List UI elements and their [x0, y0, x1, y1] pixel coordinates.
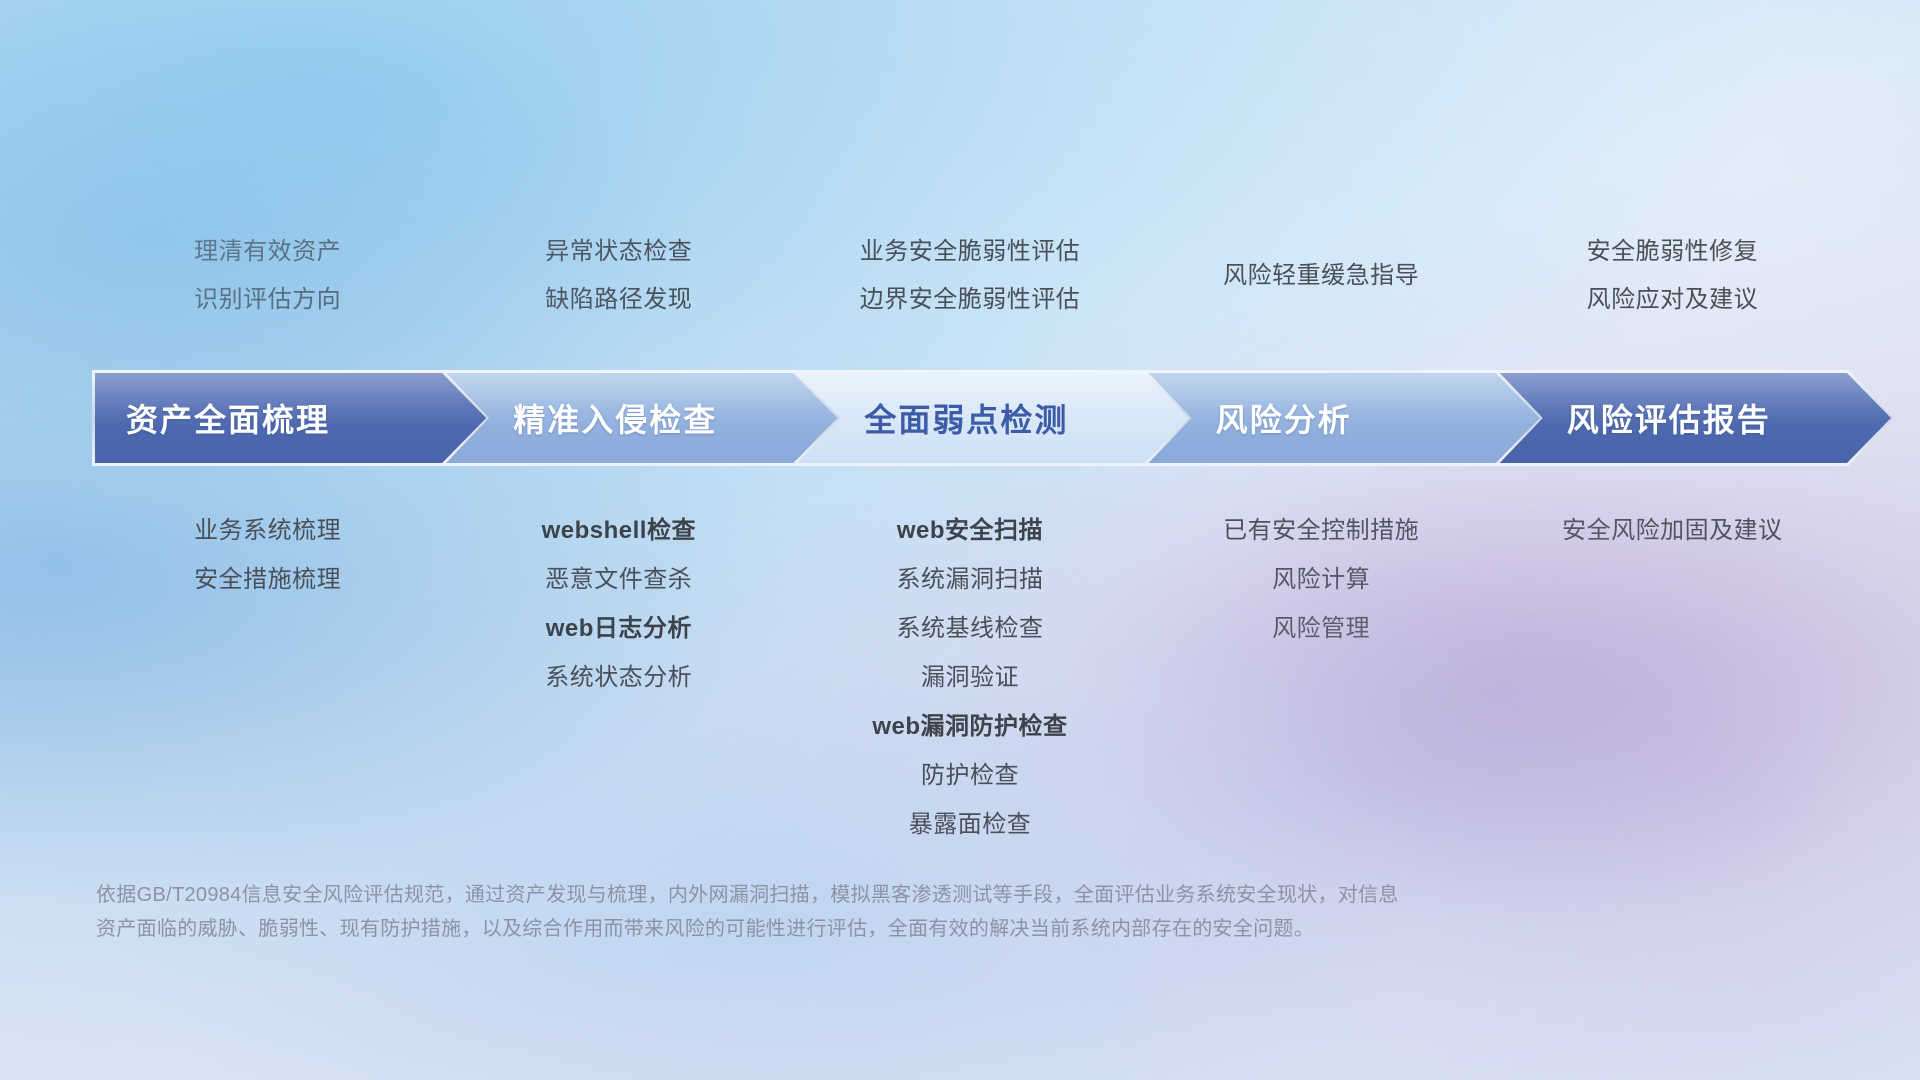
top-label-group-asset-inventory: 理清有效资产识别评估方向: [92, 228, 443, 338]
bottom-label-item: 防护检查: [794, 751, 1145, 800]
chevron-risk-report[interactable]: 风险评估报告: [1487, 370, 1894, 466]
bottom-label-item: web漏洞防护检查: [794, 702, 1145, 751]
top-label-item: 缺陷路径发现: [443, 276, 794, 324]
bottom-label-item: web日志分析: [443, 604, 794, 653]
bottom-label-group-asset-inventory: 业务系统梳理安全措施梳理: [92, 506, 443, 604]
bottom-label-item: 系统状态分析: [443, 653, 794, 702]
top-label-item: 异常状态检查: [443, 228, 794, 276]
top-label-item: 理清有效资产: [92, 228, 443, 276]
top-label-group-risk-analysis: 风险轻重缓急指导: [1146, 228, 1497, 338]
bottom-label-item: 系统基线检查: [794, 604, 1145, 653]
bottom-label-item: 业务系统梳理: [92, 506, 443, 555]
bottom-label-item: 暴露面检查: [794, 800, 1145, 849]
top-label-item: 边界安全脆弱性评估: [794, 276, 1145, 324]
bottom-label-item: 恶意文件查杀: [443, 555, 794, 604]
bottom-label-item: 风险管理: [1146, 604, 1497, 653]
bottom-label-group-risk-report: 安全风险加固及建议: [1497, 506, 1848, 555]
chevron-asset-inventory[interactable]: 资产全面梳理: [92, 370, 489, 466]
chevron-label-asset-inventory: 资产全面梳理: [126, 395, 330, 441]
bottom-label-item: 风险计算: [1146, 555, 1497, 604]
chevron-intrusion-check[interactable]: 精准入侵检查: [433, 370, 840, 466]
footer-line-2: 资产面临的威胁、脆弱性、现有防护措施，以及综合作用而带来风险的可能性进行评估，全…: [96, 912, 1616, 946]
chevron-label-intrusion-check: 精准入侵检查: [513, 395, 717, 441]
top-label-group-intrusion-check: 异常状态检查缺陷路径发现: [443, 228, 794, 338]
bottom-label-group-risk-analysis: 已有安全控制措施风险计算风险管理: [1146, 506, 1497, 653]
slide-canvas: 理清有效资产识别评估方向异常状态检查缺陷路径发现业务安全脆弱性评估边界安全脆弱性…: [0, 0, 1920, 1080]
top-label-item: 风险应对及建议: [1497, 276, 1848, 324]
top-label-group-weakness-detection: 业务安全脆弱性评估边界安全脆弱性评估: [794, 228, 1145, 338]
bottom-labels-row: 业务系统梳理安全措施梳理webshell检查恶意文件查杀web日志分析系统状态分…: [92, 506, 1848, 849]
bottom-label-item: 安全风险加固及建议: [1497, 506, 1848, 555]
top-label-group-risk-report: 安全脆弱性修复风险应对及建议: [1497, 228, 1848, 338]
bottom-label-item: 已有安全控制措施: [1146, 506, 1497, 555]
bottom-label-item: webshell检查: [443, 506, 794, 555]
bottom-label-group-intrusion-check: webshell检查恶意文件查杀web日志分析系统状态分析: [443, 506, 794, 702]
bottom-label-item: web安全扫描: [794, 506, 1145, 555]
chevron-risk-analysis[interactable]: 风险分析: [1136, 370, 1543, 466]
chevron-label-weakness-detection: 全面弱点检测: [864, 395, 1068, 441]
bottom-label-group-weakness-detection: web安全扫描系统漏洞扫描系统基线检查漏洞验证web漏洞防护检查防护检查暴露面检…: [794, 506, 1145, 849]
chevron-weakness-detection[interactable]: 全面弱点检测: [784, 370, 1191, 466]
bottom-label-item: 系统漏洞扫描: [794, 555, 1145, 604]
footer-description: 依据GB/T20984信息安全风险评估规范，通过资产发现与梳理，内外网漏洞扫描，…: [96, 878, 1616, 946]
top-label-item: 业务安全脆弱性评估: [794, 228, 1145, 276]
bottom-label-item: 安全措施梳理: [92, 555, 443, 604]
bottom-label-item: 漏洞验证: [794, 653, 1145, 702]
chevron-label-risk-report: 风险评估报告: [1567, 395, 1771, 441]
footer-line-1: 依据GB/T20984信息安全风险评估规范，通过资产发现与梳理，内外网漏洞扫描，…: [96, 878, 1616, 912]
top-label-item: 风险轻重缓急指导: [1146, 252, 1497, 300]
process-chevron-band: 资产全面梳理精准入侵检查全面弱点检测风险分析风险评估报告: [92, 370, 1848, 466]
chevron-label-risk-analysis: 风险分析: [1216, 395, 1352, 441]
top-labels-row: 理清有效资产识别评估方向异常状态检查缺陷路径发现业务安全脆弱性评估边界安全脆弱性…: [92, 228, 1848, 338]
top-label-item: 识别评估方向: [92, 276, 443, 324]
top-label-item: 安全脆弱性修复: [1497, 228, 1848, 276]
